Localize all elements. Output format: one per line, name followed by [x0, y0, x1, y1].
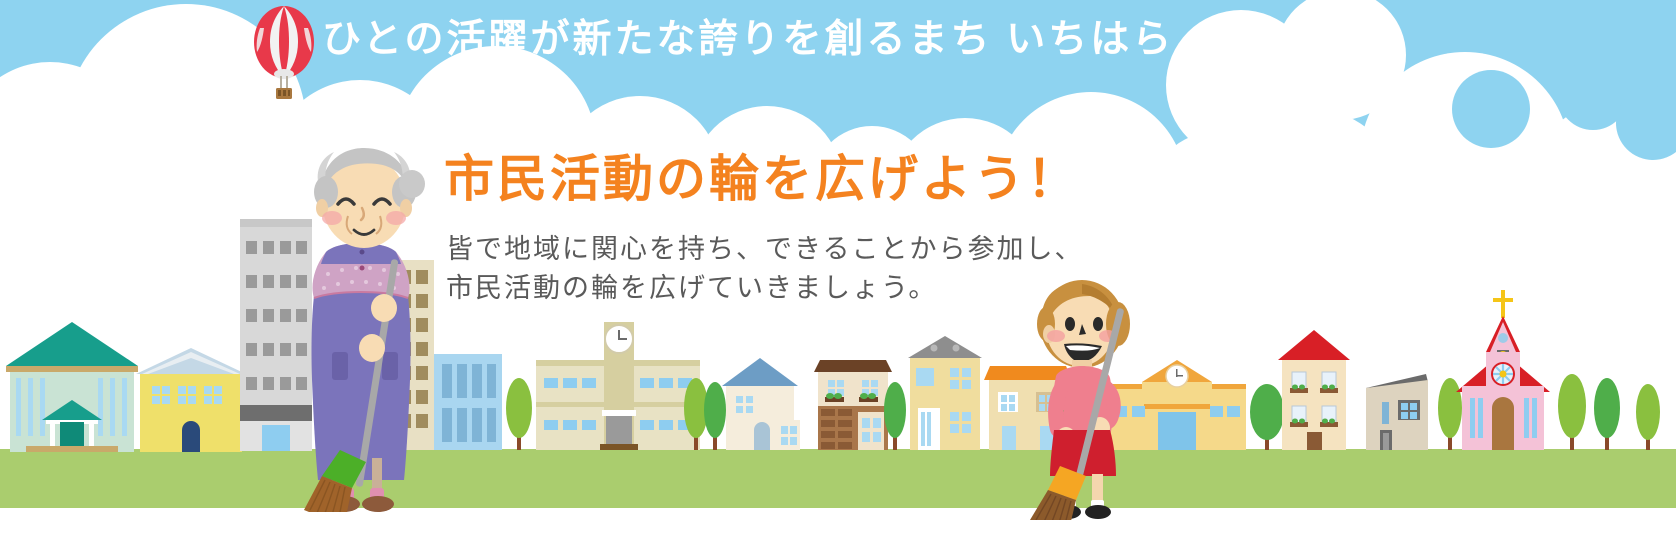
hot-air-balloon	[253, 6, 315, 102]
page-headline: 市民活動の輪を広げよう！	[444, 152, 1080, 207]
city-tagline: ひとの活躍が新たな誇りを創るまち いちはら	[322, 20, 1174, 59]
subcopy-line-1: 皆で地域に関心を持ち、できることから参加し、	[446, 230, 1083, 269]
character-elderly-woman-sweeping	[286, 140, 446, 517]
building-yellow-house	[136, 348, 246, 457]
building-pink-church	[1456, 286, 1550, 455]
building-civic-hall	[6, 322, 138, 457]
building-gray-roof-house	[906, 332, 984, 455]
page-subcopy: 皆で地域に関心を持ち、できることから参加し、 市民活動の輪を広げていきましょう。	[446, 230, 1083, 308]
building-red-roof-apartment	[1278, 330, 1350, 455]
subcopy-line-2: 市民活動の輪を広げていきましょう。	[446, 269, 1083, 308]
building-school-with-clock	[536, 322, 700, 455]
tree	[1558, 374, 1586, 455]
tree	[506, 378, 532, 455]
building-blue-roof-house	[722, 358, 802, 455]
city-promotion-banner: ひとの活躍が新たな誇りを創るまち いちはら 市民活動の輪を広げよう！ 皆で地域に…	[0, 0, 1676, 560]
character-young-woman-sweeping	[1020, 280, 1150, 525]
tree	[1636, 384, 1660, 455]
building-modern-house	[1360, 366, 1432, 455]
tree	[1594, 378, 1620, 455]
tree	[884, 382, 906, 455]
building-brown-roof-shop	[812, 338, 894, 455]
